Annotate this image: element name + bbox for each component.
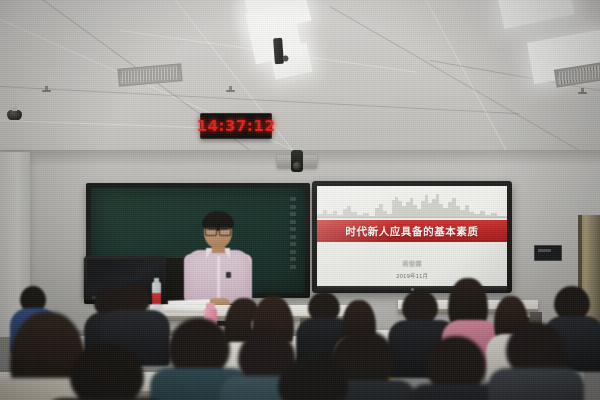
paper-handouts — [163, 305, 209, 312]
slide-title-banner: 时代新人应具备的基本素质 — [317, 220, 507, 242]
security-dome-camera — [7, 110, 22, 120]
fire-sprinkler-head — [42, 86, 51, 93]
clear-water-bottle — [152, 282, 161, 312]
ceiling — [0, 0, 600, 172]
clock-time-text: 14:37:12 — [197, 117, 276, 135]
ceiling-light-panel — [251, 0, 292, 35]
lecturer-pocket-badge — [226, 272, 231, 278]
ceiling-projector-mount — [273, 38, 284, 65]
slide-date-text: 2019年11月 — [317, 272, 507, 280]
glasses-icon — [205, 227, 231, 234]
slide-title-text: 时代新人应具备的基本素质 — [345, 224, 478, 239]
slide-author-text: 蒋俊霖 — [317, 258, 507, 268]
presentation-display[interactable]: 时代新人应具备的基本素质 蒋俊霖 2019年11月 — [312, 181, 512, 293]
chalkboard-writing — [290, 197, 298, 269]
wall-control-panel[interactable] — [534, 245, 562, 261]
wall-camera — [277, 150, 317, 174]
skyline-graphic — [317, 192, 507, 218]
fire-sprinkler-head — [578, 88, 587, 95]
fire-sprinkler-head — [226, 86, 235, 93]
classroom-photo: 14:37:12 时代新人应具备的基本素质 蒋俊霖 2019年11月 — [0, 0, 600, 400]
presentation-slide: 时代新人应具备的基本素质 蒋俊霖 2019年11月 — [317, 186, 507, 286]
wall-digital-clock: 14:37:12 — [200, 113, 272, 139]
